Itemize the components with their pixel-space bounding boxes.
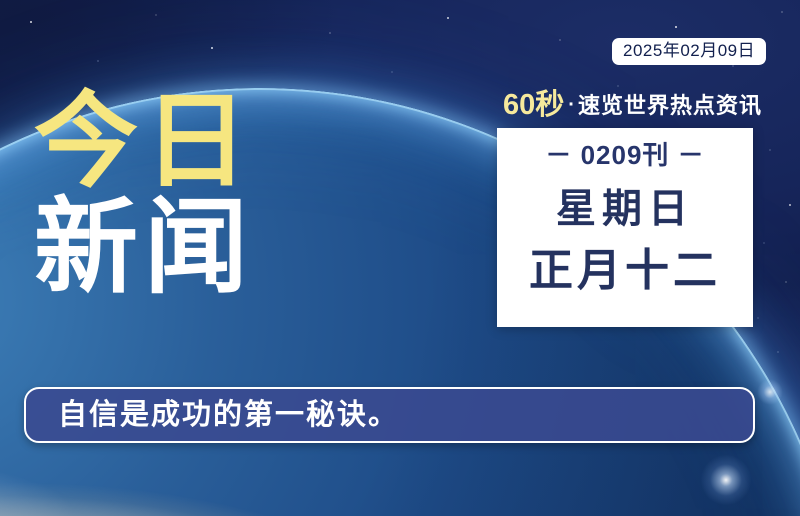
subtitle-strip: 60秒·速览世界热点资讯 [503,88,773,126]
subtitle-tagline: 速览世界热点资讯 [578,93,762,118]
quote-text: 自信是成功的第一秘诀。 [26,398,399,432]
issue-number: － 0209刊 － [545,138,704,172]
star-flare-small [757,379,783,405]
star-flare-large [701,455,751,505]
lunar-date-label: 正月十二 [529,242,721,300]
date-badge: 2025年02月09日 [612,38,766,65]
weekday-label: 星期日 [556,182,694,236]
news-poster: 今日 新闻 2025年02月09日 60秒·速览世界热点资讯 － 0209刊 －… [0,0,800,516]
quote-banner: 自信是成功的第一秘诀。 [24,387,755,443]
title-line-today: 今日 [34,86,334,198]
info-card: － 0209刊 － 星期日 正月十二 [497,128,753,327]
subtitle-duration: 60秒 [503,89,564,121]
title-line-news: 新闻 [34,192,334,304]
poster-title: 今日 新闻 [34,86,334,304]
subtitle-separator-dot: · [564,94,578,116]
